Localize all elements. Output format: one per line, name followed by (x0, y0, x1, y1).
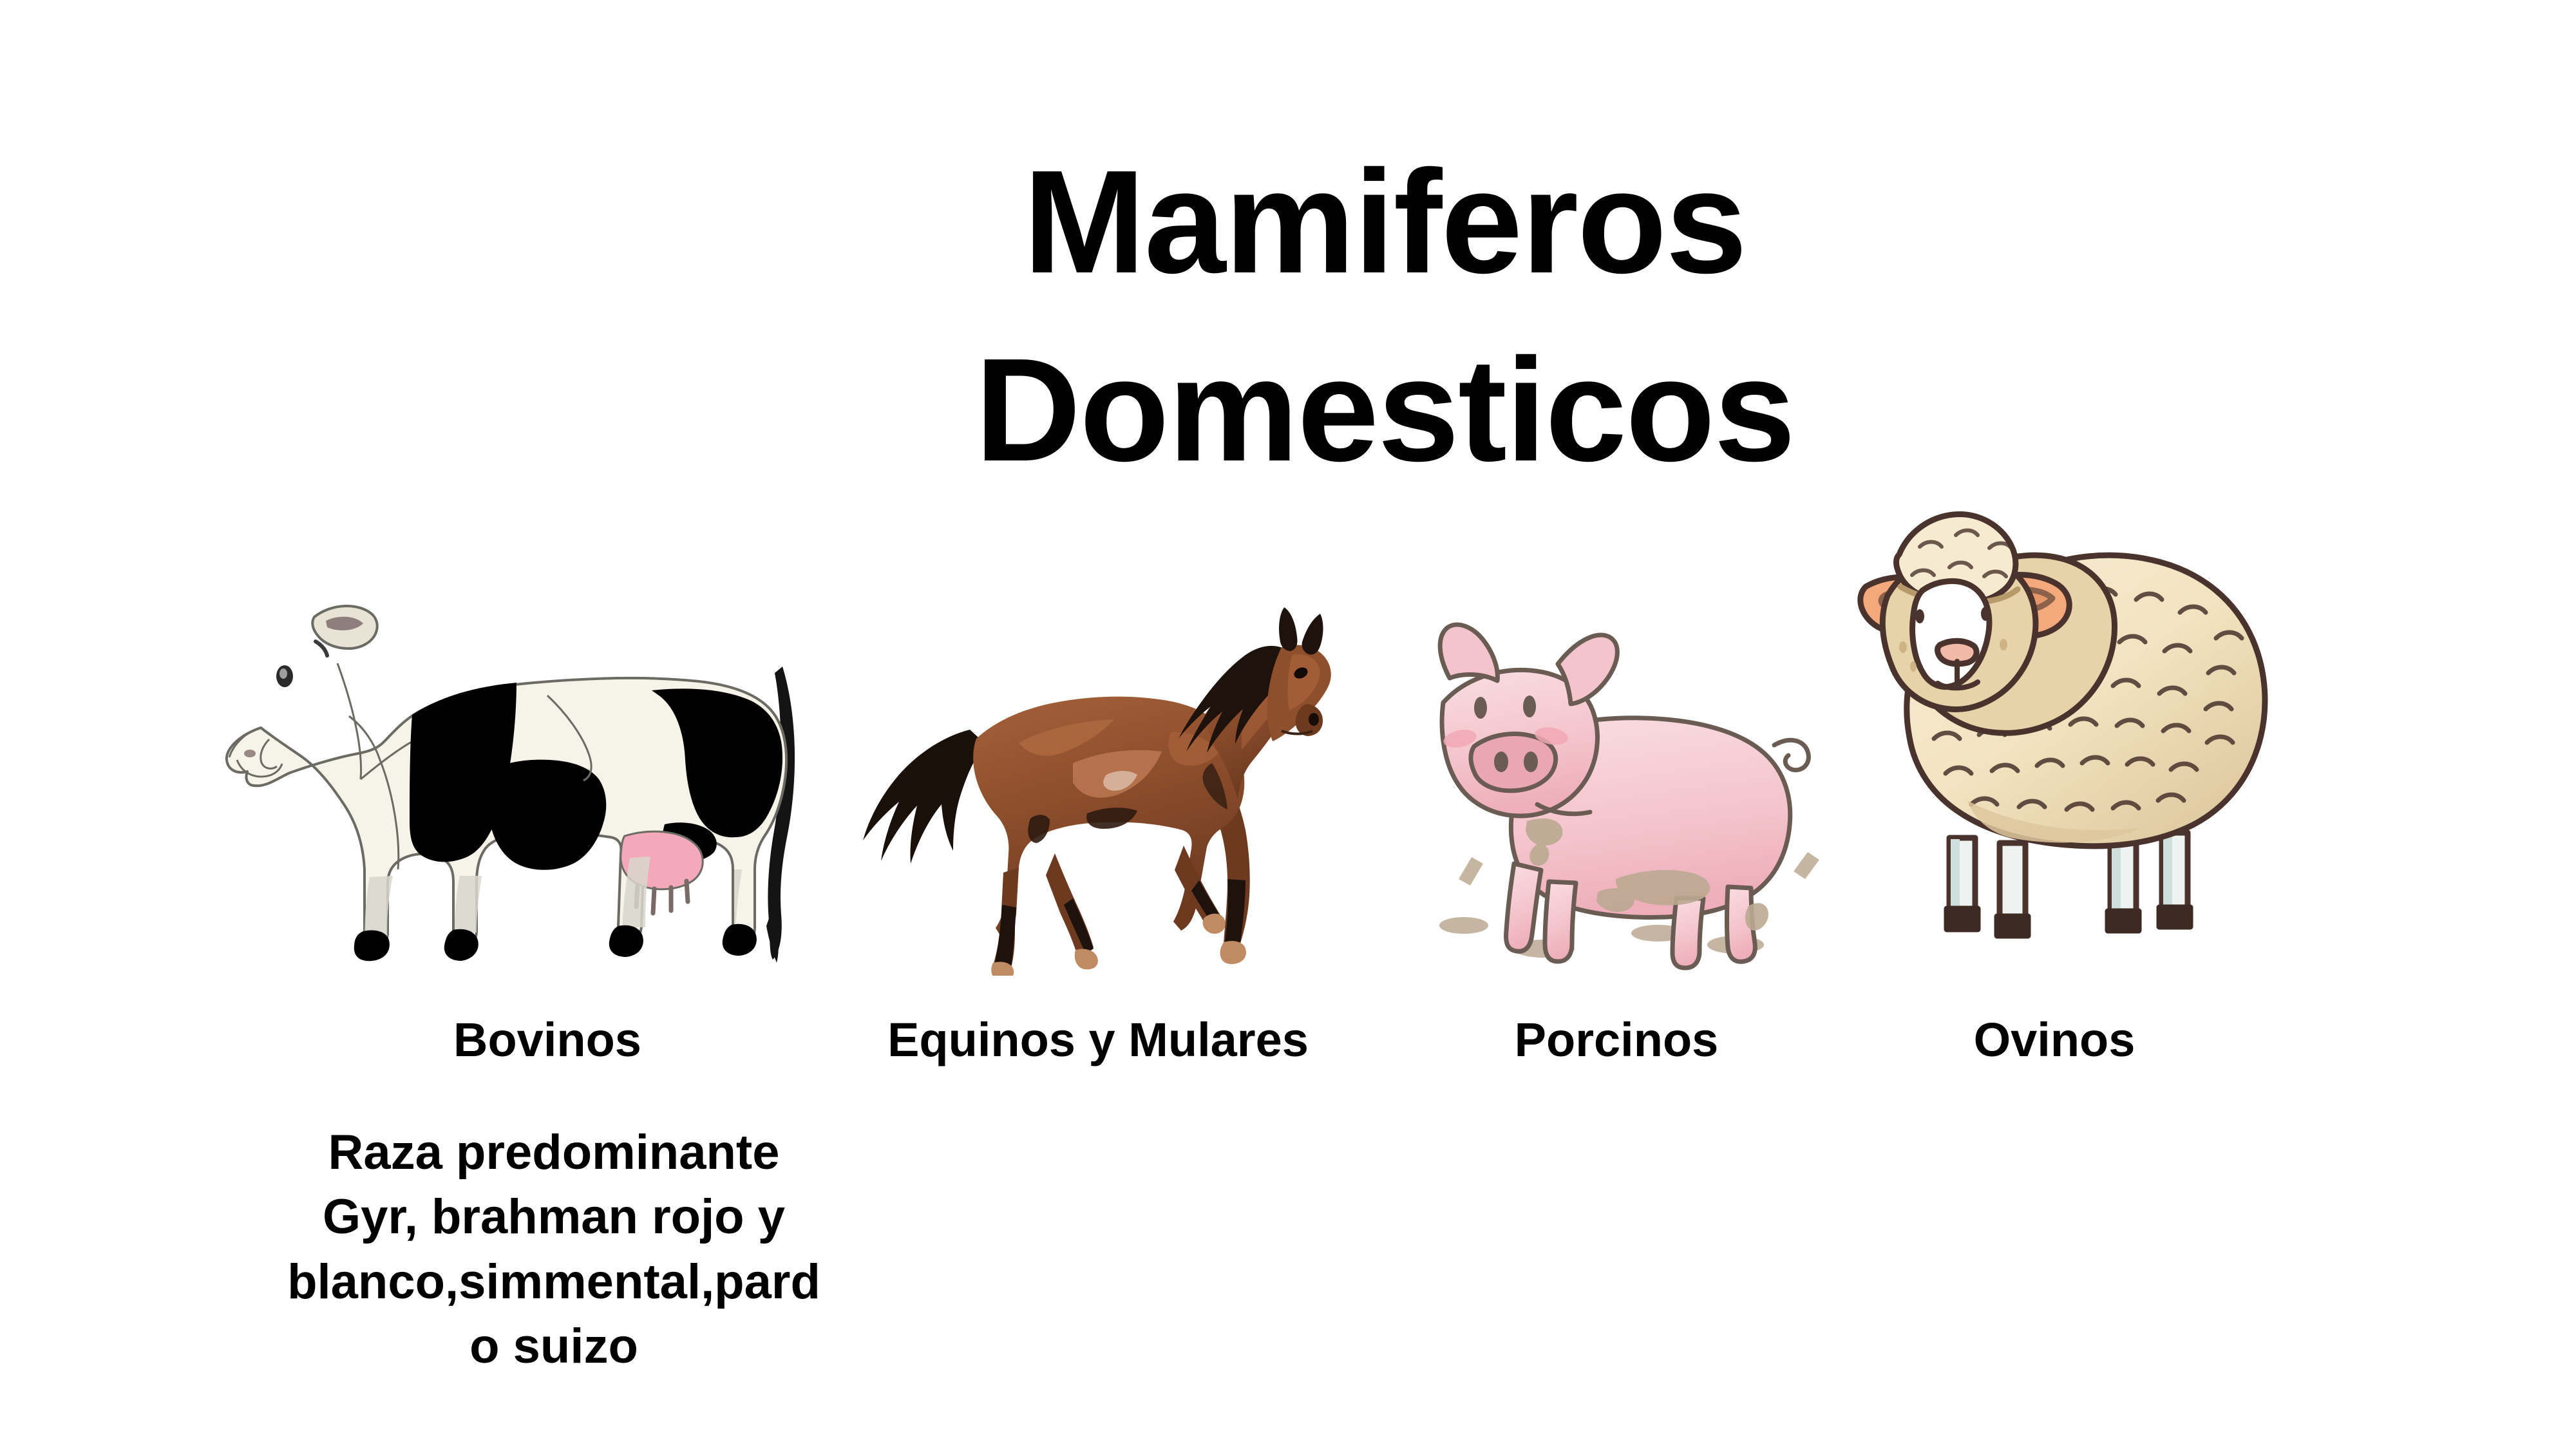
breed-note-line-1: Raza predominante (174, 1121, 934, 1185)
sheep-illustration (1806, 454, 2296, 943)
breed-note-line-2: Gyr, brahman rojo y (174, 1185, 934, 1249)
breed-note-line-3: blanco,simmental,pard (174, 1250, 934, 1314)
caption-porcinos: Porcinos (1410, 1012, 1823, 1067)
title-line-2: Domesticos (824, 317, 1945, 505)
breed-note: Raza predominante Gyr, brahman rojo y bl… (174, 1121, 934, 1379)
title-line-1: Mamiferos (824, 129, 1945, 317)
pig-illustration (1388, 609, 1839, 976)
breed-note-line-4: o suizo (174, 1314, 934, 1379)
cow-illustration (200, 567, 811, 979)
slide-canvas: Mamiferos Domesticos (0, 0, 2576, 1449)
horse-illustration (857, 570, 1340, 976)
page-title: Mamiferos Domesticos (824, 129, 1945, 505)
caption-ovinos: Ovinos (1893, 1012, 2215, 1067)
caption-bovinos: Bovinos (270, 1012, 824, 1067)
caption-equinos: Equinos y Mulares (747, 1012, 1449, 1067)
